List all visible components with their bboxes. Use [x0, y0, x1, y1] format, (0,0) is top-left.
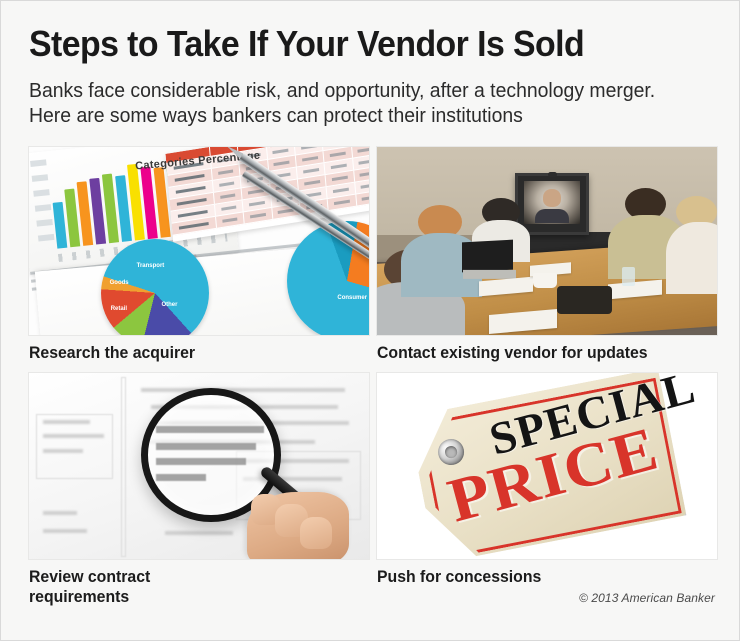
panel-review-contract-requirements: Review contract requirements	[29, 373, 369, 603]
price-tag: SPECIAL PRICE	[408, 373, 687, 559]
copyright-notice: © 2013 American Banker	[579, 591, 715, 605]
page-subtitle: Banks face considerable risk, and opport…	[29, 79, 700, 129]
hand	[247, 492, 349, 559]
tv-screen	[524, 181, 580, 224]
video-camera-icon	[548, 172, 557, 176]
contract-box-left	[36, 414, 113, 479]
contract-divider	[121, 377, 126, 558]
laptop-icon	[462, 240, 513, 273]
panel-research-the-acquirer: Categories Percentage Other Transport Go…	[29, 147, 369, 362]
caption-contact-existing-vendor: Contact existing vendor for updates	[377, 343, 693, 363]
photo-business-charts: Categories Percentage Other Transport Go…	[29, 147, 369, 335]
television-monitor	[515, 173, 590, 235]
caption-review-contract-requirements: Review contract requirements	[29, 567, 336, 607]
panel-push-for-concessions: SPECIAL PRICE Push for concessions	[377, 373, 717, 603]
caption-push-for-concessions: Push for concessions	[377, 567, 684, 587]
photo-conference-videocall	[377, 147, 717, 335]
bag-icon	[557, 286, 611, 314]
page-title: Steps to Take If Your Vendor Is Sold	[29, 23, 678, 65]
attendee-body-right-front	[666, 222, 717, 293]
caption-research-the-acquirer: Research the acquirer	[29, 343, 336, 363]
infographic-root: Steps to Take If Your Vendor Is Sold Ban…	[0, 0, 740, 641]
photo-magnifier-contract	[29, 373, 369, 559]
water-glass-icon-2	[622, 267, 636, 286]
panel-contact-existing-vendor: Contact existing vendor for updates	[377, 147, 717, 362]
coffee-cup-icon	[533, 273, 557, 288]
remote-participant-body	[535, 209, 569, 223]
remote-participant-face	[543, 189, 561, 207]
photo-special-price-tag: SPECIAL PRICE	[377, 373, 717, 559]
